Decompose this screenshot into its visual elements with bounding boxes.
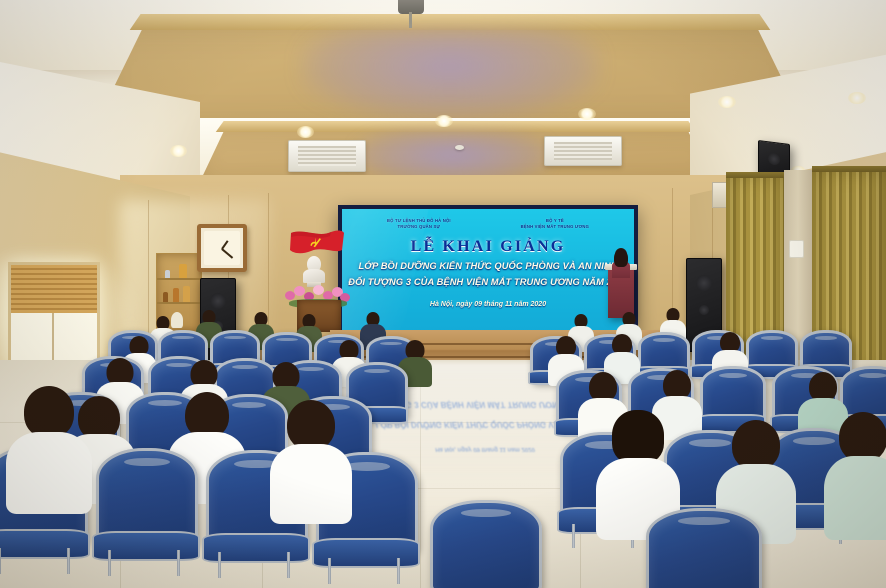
ceiling-downlight [718, 96, 736, 108]
chair [96, 448, 192, 576]
chair-backrest [430, 500, 542, 588]
chair-leg [177, 550, 180, 576]
niche-shelf [157, 302, 201, 304]
trophy-item [183, 286, 190, 302]
chair-back-notch [124, 458, 170, 467]
ceiling-downlight [578, 108, 596, 120]
org-right-line2: BỆNH VIỆN MẮT TRUNG ƯƠNG [521, 224, 589, 230]
chair-back-notch [276, 338, 297, 342]
org-right: BỘ Y TẾ BỆNH VIỆN MẮT TRUNG ƯƠNG [521, 218, 589, 230]
chair-back-notch [364, 369, 391, 374]
chair-back-notch [232, 365, 259, 370]
attendee-head [24, 386, 74, 438]
chair-back-notch [678, 517, 731, 525]
attendee-head [732, 420, 780, 470]
speaker-driver [768, 152, 780, 165]
chair-back-notch [461, 509, 512, 517]
chair [430, 500, 536, 588]
chair-back-notch [719, 373, 748, 378]
ac-grille [554, 142, 612, 160]
attendee-foreground [270, 400, 352, 518]
ceiling-blue-glow-upper [300, 30, 600, 120]
clock-minute-hand [222, 248, 234, 258]
ceiling-downlight [170, 145, 187, 157]
chair-leg [218, 552, 221, 578]
chair-back-notch [815, 336, 837, 340]
attendee-foreground [824, 412, 886, 532]
projector-mount-rod [409, 12, 412, 28]
trophy-item [173, 288, 179, 302]
ceiling-downlight [435, 115, 453, 127]
chair-back-notch [761, 336, 783, 340]
chair [646, 508, 756, 588]
ceiling-wood-trim-lower [192, 121, 720, 132]
chair-seat [0, 529, 90, 559]
presenter-hair [614, 249, 628, 267]
ceiling-wood-trim-upper [86, 14, 814, 30]
communist-party-flag [289, 228, 345, 258]
clock-face [204, 231, 240, 265]
ceiling-ac-cassette [288, 140, 366, 172]
chair-leg [0, 548, 1, 574]
ceiling-downlight [297, 126, 314, 138]
trophy-item [163, 292, 168, 302]
chair-back-notch [859, 373, 886, 378]
chair-leg [287, 552, 290, 578]
speaker-driver [210, 293, 226, 309]
speaker-driver [696, 275, 712, 291]
chair-leg [572, 524, 575, 548]
attendee-torso [6, 432, 92, 514]
attendee-torso [270, 444, 352, 524]
chair-back-notch [653, 338, 675, 342]
ac-grille [298, 146, 356, 165]
curtain-rail [726, 172, 784, 178]
ceiling-downlight [848, 92, 866, 104]
wall-switch-plate [789, 240, 804, 258]
chair-leg [67, 548, 70, 574]
chair-leg [328, 558, 331, 584]
attendee-head [612, 410, 664, 464]
conference-hall-photo: BỘ TƯ LỆNH THỦ ĐÔ HÀ NỘI TRƯỜNG QUÂN SỰ … [0, 0, 886, 588]
chair-back-notch [224, 336, 245, 340]
trophy-item [165, 270, 170, 278]
attendee-foreground [6, 386, 92, 506]
bust-torso [303, 269, 325, 283]
niche-shelf [157, 278, 201, 280]
trophy-item [179, 264, 187, 278]
wall-clock [197, 224, 247, 272]
flag-svg [289, 228, 345, 258]
attendee-head [839, 412, 886, 462]
attendee-torso [824, 456, 886, 540]
speaker-driver [699, 305, 709, 315]
window-blinds [11, 265, 97, 313]
attendee-head [287, 400, 335, 450]
chair-leg [397, 558, 400, 584]
ceiling-ac-cassette [544, 136, 622, 166]
chair-back-notch [172, 336, 193, 340]
chair-backrest [646, 508, 762, 588]
curtain-rail [812, 166, 886, 172]
chair-leg [108, 550, 111, 576]
smoke-detector [455, 145, 464, 150]
ho-chi-minh-bust [303, 256, 325, 286]
